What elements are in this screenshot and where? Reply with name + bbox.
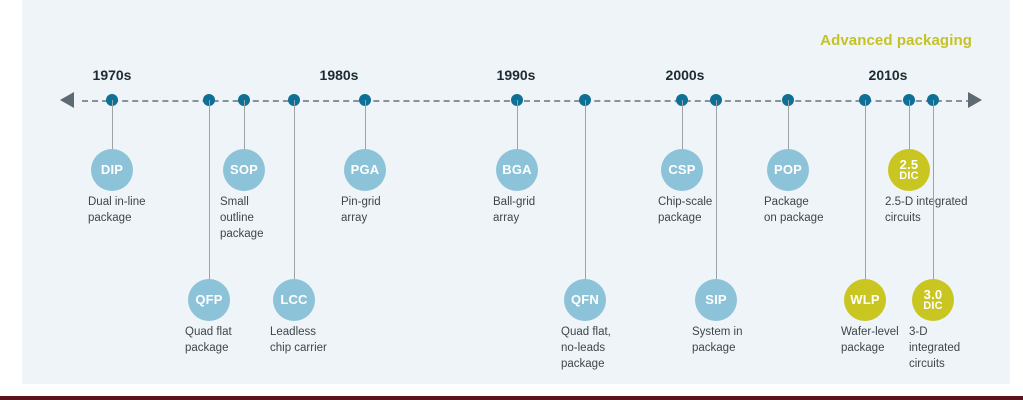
node-stem [294, 100, 295, 279]
node-stem [585, 100, 586, 279]
bubble-abbr: QFN [571, 293, 599, 306]
timeline-infographic: Advanced packaging 1970s1980s1990s2000s2… [0, 0, 1023, 400]
package-bubble-QFP[interactable]: QFP [188, 279, 230, 321]
package-caption-BGA: Ball-grid array [493, 195, 535, 227]
bubble-abbr: 2.5 [900, 158, 919, 171]
package-bubble-DIP[interactable]: DIP [91, 149, 133, 191]
package-caption-SOP: Small outline package [220, 195, 263, 243]
package-caption-2-5: 2.5-D integrated circuits [885, 195, 967, 227]
node-stem [788, 100, 789, 149]
package-bubble-WLP[interactable]: WLP [844, 279, 886, 321]
bubble-abbr-line2: DIC [923, 301, 943, 312]
node-stem [365, 100, 366, 149]
node-stem [933, 100, 934, 279]
decade-label-1970s: 1970s [93, 67, 132, 83]
decade-label-2000s: 2000s [666, 67, 705, 83]
node-stem [716, 100, 717, 279]
bubble-abbr: CSP [668, 163, 695, 176]
axis-right-arrow-icon [968, 92, 982, 108]
package-caption-SIP: System in package [692, 325, 743, 357]
node-stem [909, 100, 910, 149]
decade-label-1990s: 1990s [497, 67, 536, 83]
timeline-axis-line [82, 100, 972, 102]
bubble-abbr: LCC [280, 293, 307, 306]
package-caption-DIP: Dual in-line package [88, 195, 146, 227]
node-stem [209, 100, 210, 279]
package-caption-QFN: Quad flat, no-leads package [561, 325, 611, 373]
bottom-rule-divider [0, 396, 1023, 400]
package-caption-POP: Package on package [764, 195, 823, 227]
decade-label-1980s: 1980s [320, 67, 359, 83]
package-bubble-SIP[interactable]: SIP [695, 279, 737, 321]
package-caption-CSP: Chip-scale package [658, 195, 712, 227]
package-bubble-QFN[interactable]: QFN [564, 279, 606, 321]
bubble-abbr: 3.0 [924, 288, 943, 301]
node-stem [517, 100, 518, 149]
package-caption-3-0: 3-D integrated circuits [909, 325, 960, 373]
bubble-abbr: QFP [195, 293, 222, 306]
package-bubble-LCC[interactable]: LCC [273, 279, 315, 321]
package-caption-QFP: Quad flat package [185, 325, 232, 357]
infographic-panel: Advanced packaging 1970s1980s1990s2000s2… [22, 0, 1010, 384]
package-caption-WLP: Wafer-level package [841, 325, 899, 357]
package-bubble-POP[interactable]: POP [767, 149, 809, 191]
decade-label-2010s: 2010s [869, 67, 908, 83]
package-bubble-2-5[interactable]: 2.5DIC [888, 149, 930, 191]
package-bubble-CSP[interactable]: CSP [661, 149, 703, 191]
node-stem [682, 100, 683, 149]
bubble-abbr-line2: DIC [899, 171, 919, 182]
package-bubble-SOP[interactable]: SOP [223, 149, 265, 191]
node-stem [244, 100, 245, 149]
package-bubble-3-0[interactable]: 3.0DIC [912, 279, 954, 321]
bubble-abbr: PGA [351, 163, 380, 176]
bubble-abbr: SOP [230, 163, 258, 176]
package-caption-PGA: Pin-grid array [341, 195, 381, 227]
axis-left-arrow-icon [60, 92, 74, 108]
bubble-abbr: WLP [850, 293, 879, 306]
bubble-abbr: BGA [502, 163, 532, 176]
package-bubble-PGA[interactable]: PGA [344, 149, 386, 191]
package-bubble-BGA[interactable]: BGA [496, 149, 538, 191]
bubble-abbr: SIP [705, 293, 727, 306]
node-stem [865, 100, 866, 279]
node-stem [112, 100, 113, 149]
package-caption-LCC: Leadless chip carrier [270, 325, 327, 357]
advanced-packaging-legend-label: Advanced packaging [820, 32, 972, 49]
bubble-abbr: DIP [101, 163, 123, 176]
bubble-abbr: POP [774, 163, 802, 176]
